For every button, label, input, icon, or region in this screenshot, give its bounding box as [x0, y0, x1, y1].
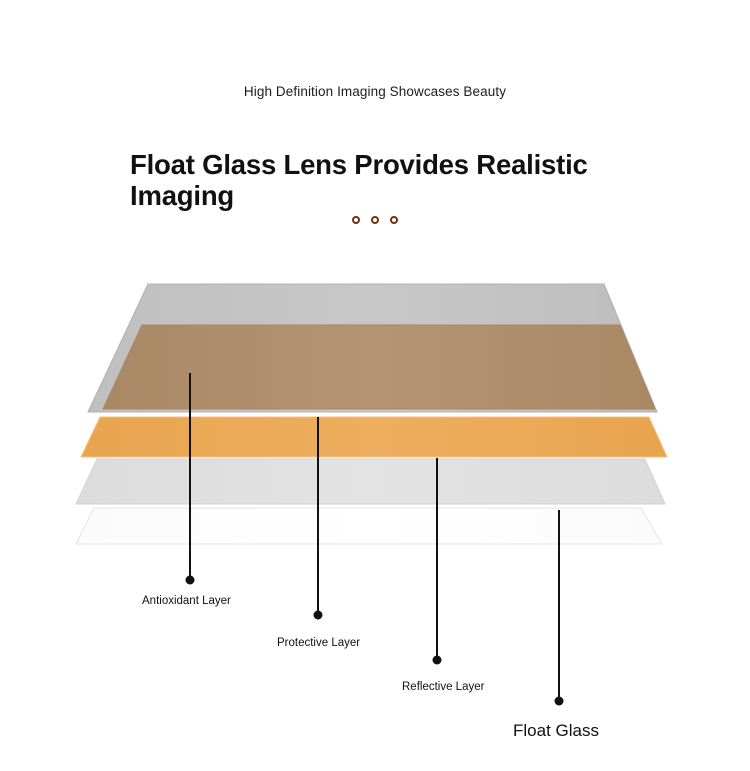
callout-protective-label: Protective Layer — [277, 637, 360, 649]
layer-stack-diagram — [0, 0, 750, 771]
callout-reflective-end-dot — [433, 656, 442, 665]
layer-reflective-lightgray — [76, 459, 665, 504]
callout-float-glass-end-dot — [555, 697, 564, 706]
callout-antioxidant-end-dot — [186, 576, 195, 585]
callout-antioxidant-label: Antioxidant Layer — [142, 595, 231, 607]
callout-reflective-label: Reflective Layer — [402, 681, 484, 693]
layer-antioxidant-brown — [103, 325, 655, 409]
callout-protective-end-dot — [314, 611, 323, 620]
layer-float-glass-white — [76, 508, 662, 544]
page-root: High Definition Imaging Showcases Beauty… — [0, 0, 750, 771]
layer-protective-orange — [81, 417, 667, 457]
diagram-layers — [76, 284, 667, 544]
callout-float-glass-label: Float Glass — [513, 721, 599, 741]
